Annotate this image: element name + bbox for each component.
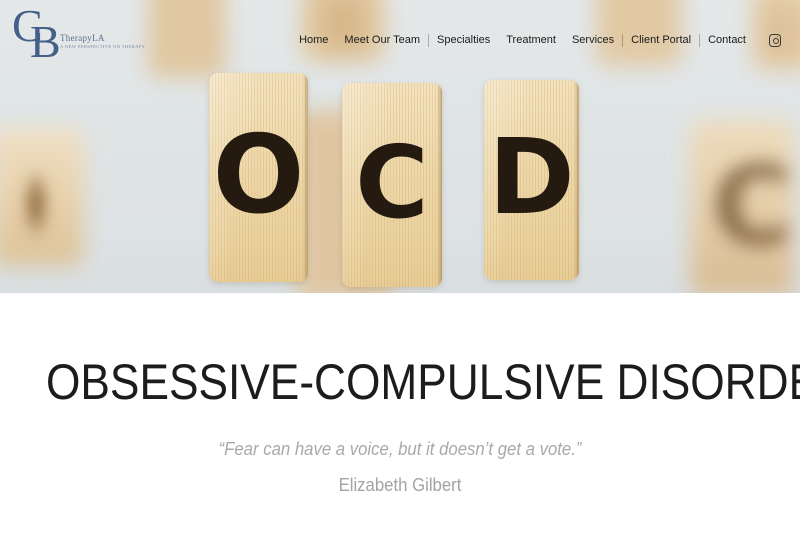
wooden-tile-o: O	[209, 73, 308, 282]
nav-item-specialties[interactable]: Specialties	[429, 34, 498, 47]
main-navigation: Home Meet Our Team Specialties Treatment…	[291, 33, 782, 47]
logo-monogram: C B	[12, 3, 40, 49]
tile-letter-c: C	[342, 83, 442, 287]
site-header: C B TherapyLA A NEW PERSPECTIVE ON THERA…	[0, 0, 800, 70]
blurred-letter-left	[8, 158, 64, 250]
tile-edge-shadow	[303, 73, 308, 282]
tile-edge-shadow	[574, 80, 579, 280]
tile-letter-o: O	[209, 73, 308, 282]
tile-letter-d: D	[484, 80, 579, 280]
nav-item-contact[interactable]: Contact	[700, 34, 754, 47]
instagram-link[interactable]	[768, 33, 782, 47]
nav-item-services[interactable]: Services	[564, 34, 622, 47]
page-title: OBSESSIVE-COMPULSIVE DISORDER	[46, 355, 754, 409]
site-logo[interactable]: C B TherapyLA A NEW PERSPECTIVE ON THERA…	[8, 5, 128, 63]
nav-item-home[interactable]: Home	[291, 34, 336, 47]
hero-quote-author: Elizabeth Gilbert	[28, 473, 772, 497]
logo-brand-name: TherapyLA	[60, 33, 105, 43]
logo-tagline: A NEW PERSPECTIVE ON THERAPY	[60, 44, 145, 50]
wooden-tile-c: C	[342, 83, 442, 287]
nav-item-client-portal[interactable]: Client Portal	[623, 34, 699, 47]
instagram-icon[interactable]	[769, 34, 781, 47]
page-content: OBSESSIVE-COMPULSIVE DISORDER “Fear can …	[0, 293, 800, 554]
wooden-tile-d: D	[484, 80, 579, 280]
tile-edge-shadow	[437, 83, 442, 287]
logo-letter-b: B	[30, 19, 58, 65]
hero-quote: “Fear can have a voice, but it doesn’t g…	[28, 437, 772, 461]
page-root: C O C D C B TherapyLA A NEW PERSPECTIVE …	[0, 0, 800, 554]
nav-item-meet-our-team[interactable]: Meet Our Team	[336, 34, 428, 47]
nav-item-treatment[interactable]: Treatment	[498, 34, 564, 47]
hero-banner: C O C D C B TherapyLA A NEW PERSPECTIVE …	[0, 0, 800, 293]
blurred-letter-right: C	[712, 150, 774, 262]
